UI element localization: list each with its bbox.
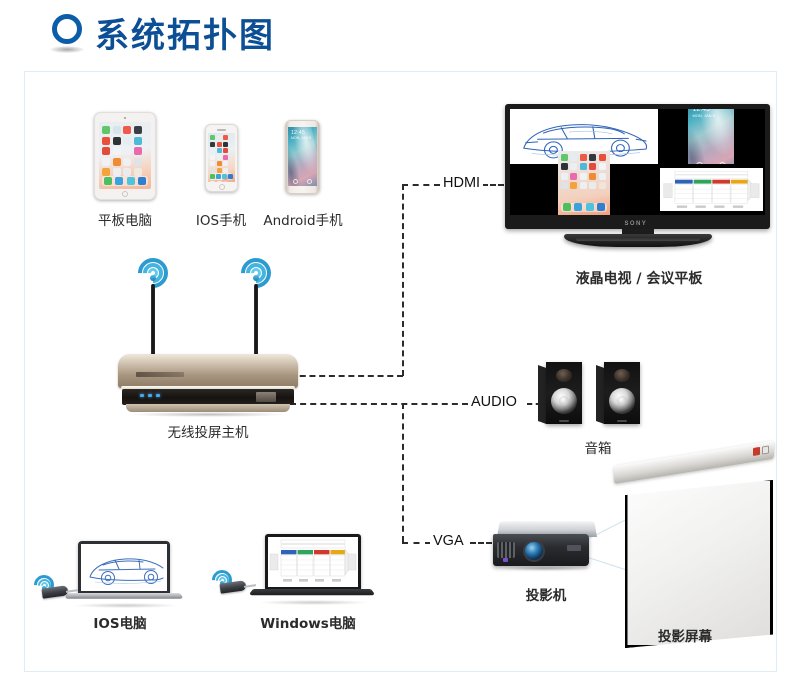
speakers-label: 音箱	[543, 437, 653, 457]
screen-power-button[interactable]	[753, 447, 760, 456]
ios-phone-dock	[210, 173, 233, 180]
antenna-right-icon	[254, 284, 258, 358]
projector-shadow	[499, 566, 591, 571]
page-header: 系统拓扑图	[0, 0, 800, 71]
projector-label: 投影机	[493, 584, 599, 604]
windows-laptop-shadow	[259, 600, 369, 605]
tv-quadrant-tablet	[510, 164, 658, 215]
projector-device[interactable]	[493, 519, 599, 571]
tablet-device[interactable]	[94, 112, 156, 200]
ios-laptop-lid	[78, 541, 170, 594]
speaker-right	[596, 362, 640, 424]
projector-led-indicator	[503, 558, 508, 562]
ios-laptop-device[interactable]	[60, 541, 180, 611]
windows-laptop-device[interactable]	[245, 534, 370, 608]
host-port	[256, 392, 276, 402]
projection-screen-label: 投影屏幕	[610, 625, 760, 645]
mirrored-android-screen: 12:45MON, JAN 5	[688, 109, 734, 172]
host-top-shell	[118, 354, 298, 388]
tablet-app-grid	[102, 126, 148, 176]
host-base	[126, 404, 290, 412]
hdmi-line-segment-horizontal-lower	[290, 375, 403, 377]
android-clock: 12:45 MON, JAN 5	[291, 130, 311, 140]
circle-icon-shadow	[50, 46, 84, 53]
android-nav-bar[interactable]	[288, 179, 317, 184]
ios-phone-body	[205, 124, 238, 192]
projector-lens-icon	[523, 540, 545, 562]
tablet-dock	[102, 176, 148, 186]
projector-vents-icon	[497, 542, 515, 558]
ios-laptop-shadow	[74, 603, 178, 608]
windows-laptop-lid	[265, 534, 361, 590]
android-home-icon	[307, 179, 312, 184]
wireless-casting-host-label: 无线投屏主机	[142, 421, 274, 441]
wifi-dongle-ios[interactable]	[42, 585, 76, 597]
lcd-tv-label: 液晶电视 / 会议平板	[546, 268, 732, 288]
projector-front	[493, 534, 589, 566]
speakers-device[interactable]	[538, 362, 648, 428]
tv-stand-base	[564, 234, 712, 247]
tablet-home-button-icon[interactable]	[122, 191, 128, 197]
tablet-camera-icon	[124, 117, 126, 119]
mirrored-tablet-screen	[558, 151, 610, 215]
vga-line-segment-horizontal-left	[402, 542, 431, 544]
mirrored-spreadsheet	[660, 168, 763, 212]
projector-port	[567, 545, 581, 551]
ios-laptop-label: IOS电脑	[58, 612, 182, 632]
ios-phone-home-button-icon[interactable]	[219, 184, 225, 190]
ios-phone-device[interactable]	[205, 124, 238, 192]
vga-line-segment-horizontal-right	[470, 542, 492, 544]
wifi-dongle-windows[interactable]	[220, 580, 254, 592]
tablet-screen	[99, 122, 151, 189]
windows-laptop-keyboard-deck[interactable]	[248, 589, 375, 595]
ios-phone-screen	[208, 133, 235, 182]
android-phone-label: Android手机	[248, 209, 358, 229]
tv-quadrant-phone: 12:45MON, JAN 5	[658, 109, 765, 164]
host-front-panel	[122, 389, 294, 405]
screen-border	[625, 480, 773, 648]
vga-label: VGA	[430, 533, 467, 549]
wifi-signal-icon-left	[138, 258, 168, 284]
android-back-icon	[293, 179, 298, 184]
antenna-left-icon	[151, 284, 155, 358]
tv-bezel: 12:45MON, JAN 5	[505, 104, 770, 229]
ios-laptop-screen	[81, 544, 167, 591]
windows-laptop-screen	[268, 537, 358, 587]
page-title: 系统拓扑图	[95, 8, 275, 57]
host-shadow	[132, 412, 284, 417]
ios-phone-speaker-icon	[217, 129, 226, 131]
android-phone-screen: 12:45 MON, JAN 5	[288, 127, 317, 186]
android-phone-device[interactable]: 12:45 MON, JAN 5	[285, 120, 320, 194]
android-phone-body: 12:45 MON, JAN 5	[285, 120, 320, 194]
host-brand-logo	[136, 372, 184, 377]
screen-control-button[interactable]	[762, 445, 769, 454]
hdmi-line-segment-vertical	[402, 184, 404, 376]
ios-laptop-keyboard-deck[interactable]	[64, 593, 184, 599]
wireless-casting-host[interactable]	[118, 258, 298, 418]
vga-line-segment-vertical	[402, 403, 404, 542]
car-sketch-icon	[81, 544, 167, 591]
speaker-left	[538, 362, 582, 424]
spreadsheet-icon	[268, 537, 358, 587]
host-led-indicators	[140, 394, 160, 397]
tv-quadrant-spreadsheet	[658, 164, 765, 215]
lcd-tv-device[interactable]: 12:45MON, JAN 5	[505, 104, 770, 252]
hdmi-line-segment-horizontal-left	[402, 184, 440, 186]
wifi-signal-icon-right	[241, 258, 271, 284]
hdmi-label: HDMI	[440, 175, 483, 191]
tv-brand-logo: SONY	[625, 221, 648, 227]
tv-panel: 12:45MON, JAN 5	[510, 109, 765, 215]
audio-line-segment-left	[290, 403, 468, 405]
windows-laptop-label: Windows电脑	[238, 612, 378, 632]
circle-icon	[52, 14, 82, 44]
audio-label: AUDIO	[468, 394, 520, 410]
tablet-body	[94, 112, 156, 200]
